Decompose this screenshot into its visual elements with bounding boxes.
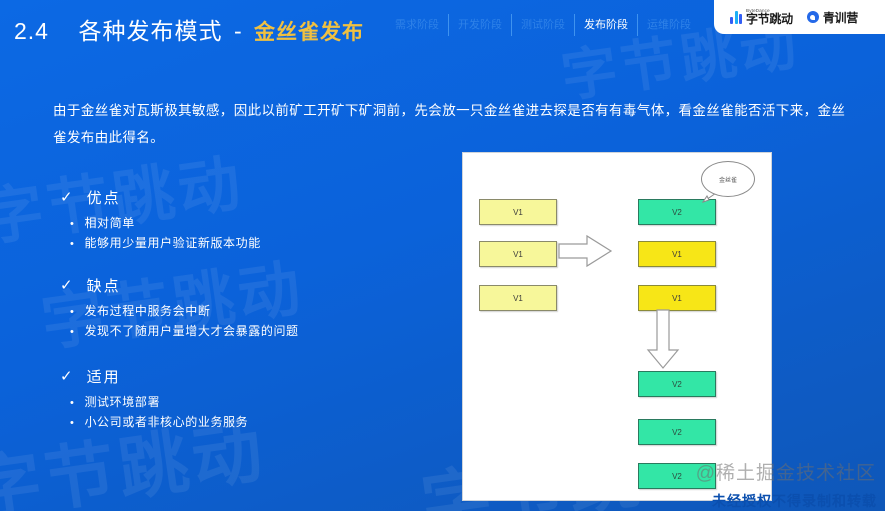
- list-item: •发现不了随用户量增大才会暴露的问题: [70, 322, 299, 342]
- list-item: •相对简单: [70, 214, 261, 234]
- node-right-2: V1: [638, 241, 716, 267]
- check-icon: ✓: [60, 278, 75, 293]
- section-heading: ✓ 缺点: [60, 275, 299, 296]
- canary-callout: 金丝雀: [701, 161, 753, 201]
- section-title: 优点: [87, 187, 121, 208]
- node-label: V2: [672, 472, 682, 481]
- tab-operations[interactable]: 运维阶段: [637, 14, 700, 36]
- node-bottom-2: V2: [638, 419, 716, 445]
- section-applicable: ✓ 适用 •测试环境部署 •小公司或者非核心的业务服务: [60, 366, 248, 433]
- title-dash: -: [234, 18, 243, 44]
- tab-development[interactable]: 开发阶段: [448, 14, 511, 36]
- canary-release-diagram: V1 V1 V1 V2 V1 V1 金丝雀 V2 V2 V2: [462, 152, 772, 501]
- tab-label: 开发阶段: [458, 19, 502, 31]
- node-left-2: V1: [479, 241, 557, 267]
- bullet-dot-icon: •: [70, 235, 74, 254]
- top-bar: 2.4 各种发布模式 - 金丝雀发布 需求阶段 开发阶段 测试阶段 发布阶段 运…: [0, 0, 885, 46]
- node-label: V2: [672, 428, 682, 437]
- bytedance-logo: ByteDance 字节跳动: [730, 9, 793, 26]
- node-left-1: V1: [479, 199, 557, 225]
- bytedance-bars-icon: [730, 11, 742, 24]
- tab-release[interactable]: 发布阶段: [574, 14, 637, 36]
- node-bottom-1: V2: [638, 371, 716, 397]
- callout-label: 金丝雀: [719, 175, 737, 184]
- callout-bubble: 金丝雀: [701, 161, 755, 197]
- tab-label: 发布阶段: [584, 19, 628, 31]
- page-title: 2.4 各种发布模式 - 金丝雀发布: [14, 12, 364, 46]
- bullet-dot-icon: •: [70, 414, 74, 433]
- node-label: V1: [513, 294, 523, 303]
- qingxunying-logo: 青训营: [807, 9, 858, 26]
- node-bottom-3: V2: [638, 463, 716, 489]
- bytedance-logo-cn: 字节跳动: [746, 13, 793, 25]
- node-label: V2: [672, 208, 682, 217]
- section-heading: ✓ 适用: [60, 366, 248, 387]
- qingxunying-dot-icon: [807, 11, 819, 23]
- bullet-dot-icon: •: [70, 303, 74, 322]
- intro-paragraph: 由于金丝雀对瓦斯极其敏感，因此以前矿工开矿下矿洞前，先会放一只金丝雀进去探是否有…: [53, 97, 853, 151]
- node-label: V1: [513, 208, 523, 217]
- list-item: •小公司或者非核心的业务服务: [70, 413, 248, 433]
- list-item: •测试环境部署: [70, 393, 248, 413]
- section-heading: ✓ 优点: [60, 187, 261, 208]
- bullet-text: 发现不了随用户量增大才会暴露的问题: [84, 322, 298, 341]
- section-title: 缺点: [87, 275, 121, 296]
- arrow-right-icon: [557, 233, 613, 269]
- qingxunying-logo-text: 青训营: [823, 9, 858, 26]
- list-item: •能够用少量用户验证新版本功能: [70, 234, 261, 254]
- tab-label: 测试阶段: [521, 19, 565, 31]
- bullet-text: 测试环境部署: [84, 393, 160, 412]
- slide-root: 字节跳动 字节跳动 字节跳动 字节跳动 字节跳动 字节跳动 2.4 各种发布模式…: [0, 0, 885, 511]
- node-label: V2: [672, 380, 682, 389]
- bullet-list: •相对简单 •能够用少量用户验证新版本功能: [60, 214, 261, 254]
- section-cons: ✓ 缺点 •发布过程中服务会中断 •发现不了随用户量增大才会暴露的问题: [60, 275, 299, 342]
- tab-testing[interactable]: 测试阶段: [511, 14, 574, 36]
- bullet-text: 能够用少量用户验证新版本功能: [84, 234, 260, 253]
- list-item: •发布过程中服务会中断: [70, 302, 299, 322]
- title-number: 2.4: [14, 18, 49, 44]
- section-title: 适用: [87, 366, 121, 387]
- title-accent: 金丝雀发布: [254, 21, 364, 44]
- bullet-text: 小公司或者非核心的业务服务: [84, 413, 248, 432]
- bullet-list: •测试环境部署 •小公司或者非核心的业务服务: [60, 393, 248, 433]
- arrow-down-icon: [646, 308, 680, 370]
- section-pros: ✓ 优点 •相对简单 •能够用少量用户验证新版本功能: [60, 187, 261, 254]
- bullet-dot-icon: •: [70, 215, 74, 234]
- node-label: V1: [672, 250, 682, 259]
- stage-tabs: 需求阶段 开发阶段 测试阶段 发布阶段 运维阶段: [386, 14, 700, 36]
- title-main: 各种发布模式: [79, 18, 223, 44]
- check-icon: ✓: [60, 369, 75, 384]
- bullet-dot-icon: •: [70, 394, 74, 413]
- bullet-text: 发布过程中服务会中断: [84, 302, 210, 321]
- bullet-text: 相对简单: [84, 214, 134, 233]
- logo-bar: ByteDance 字节跳动 青训营: [714, 0, 885, 34]
- node-label: V1: [672, 294, 682, 303]
- tab-requirements[interactable]: 需求阶段: [386, 14, 448, 36]
- node-left-3: V1: [479, 285, 557, 311]
- bullet-list: •发布过程中服务会中断 •发现不了随用户量增大才会暴露的问题: [60, 302, 299, 342]
- tab-label: 运维阶段: [647, 19, 691, 31]
- node-label: V1: [513, 250, 523, 259]
- check-icon: ✓: [60, 190, 75, 205]
- bullet-dot-icon: •: [70, 323, 74, 342]
- tab-label: 需求阶段: [395, 19, 439, 31]
